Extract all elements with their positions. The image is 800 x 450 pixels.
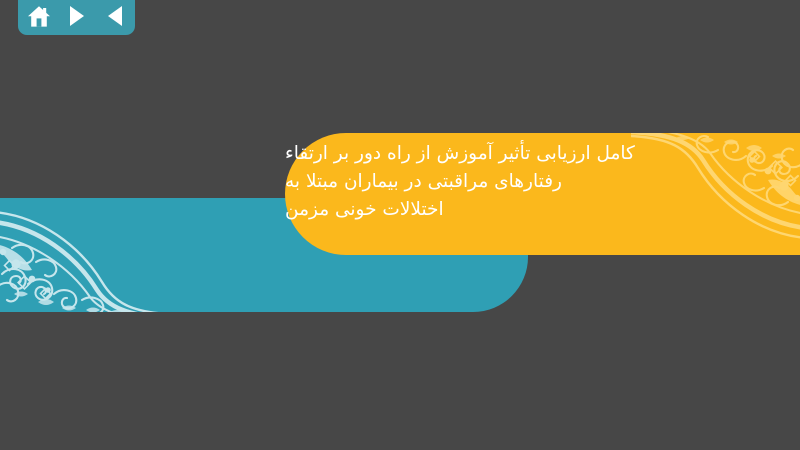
- previous-slide-button[interactable]: [103, 4, 127, 28]
- arabesque-ornament-yellow: [631, 133, 800, 255]
- arabesque-ornament-teal: [0, 198, 169, 312]
- next-slide-button[interactable]: [65, 4, 89, 28]
- triangle-left-icon: [108, 6, 122, 26]
- home-button[interactable]: [27, 4, 51, 28]
- triangle-right-icon: [70, 6, 84, 26]
- yellow-title-banner: [285, 133, 800, 255]
- navigation-bar: [18, 0, 135, 35]
- presentation-slide: کامل ارزیابی تأثیر آموزش از راه دور بر ا…: [0, 0, 800, 450]
- home-icon: [27, 5, 51, 28]
